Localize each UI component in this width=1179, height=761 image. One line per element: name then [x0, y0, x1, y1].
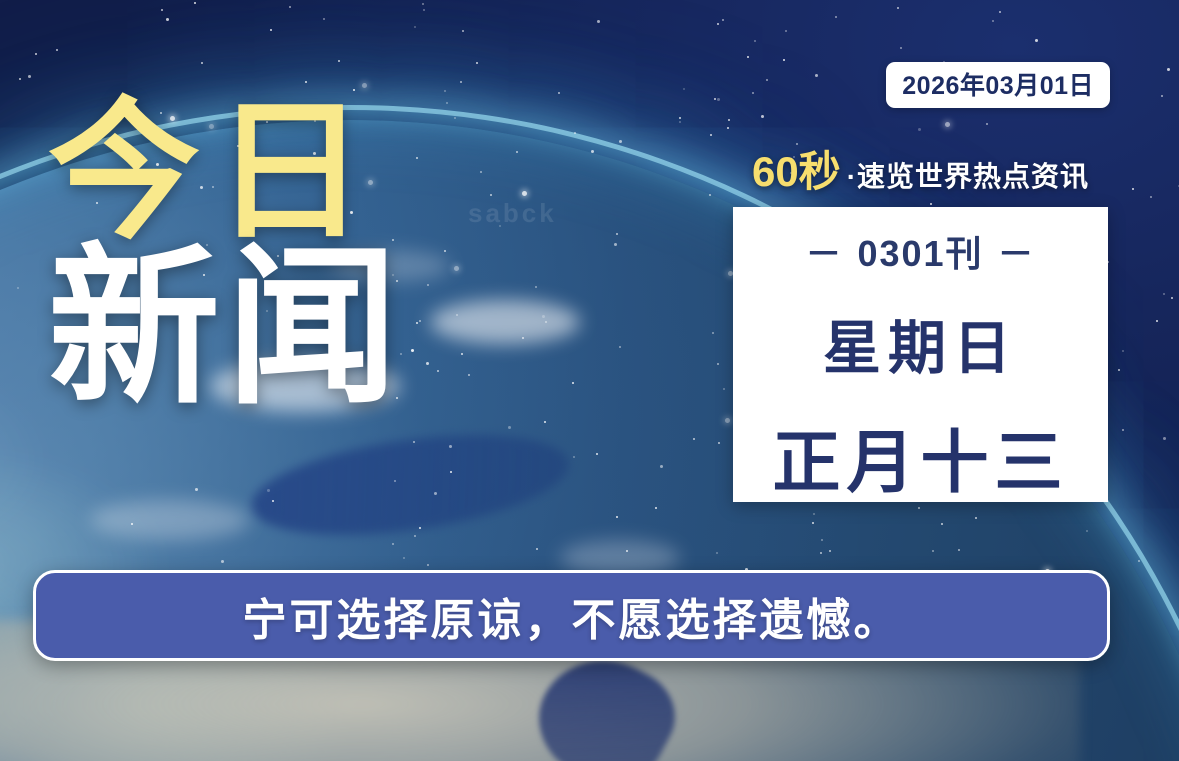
date-badge: 2026年03月01日 — [886, 62, 1110, 108]
issue-number: 0301刊 — [857, 233, 983, 274]
info-card: －0301刊－ 星期日 正月十三 — [733, 207, 1108, 502]
quote-text: 宁可选择原谅，不愿选择遗憾。 — [243, 584, 901, 648]
title-line-news: 新闻 — [48, 242, 404, 414]
lunar-date-text: 正月十三 — [772, 407, 1068, 506]
issue-dash-left: － — [805, 233, 843, 274]
tagline: 60秒 ·速览世界热点资讯 — [733, 138, 1108, 199]
right-panel: 60秒 ·速览世界热点资讯 －0301刊－ 星期日 正月十三 — [733, 138, 1108, 502]
tagline-highlight: 60秒 — [752, 138, 841, 199]
quote-bar: 宁可选择原谅，不愿选择遗憾。 — [33, 570, 1110, 661]
tagline-rest: ·速览世界热点资讯 — [847, 155, 1089, 195]
weekday-text: 星期日 — [823, 301, 1018, 385]
page-title: 今日 新闻 — [48, 96, 404, 414]
issue-line: －0301刊－ — [791, 225, 1049, 277]
issue-dash-right: － — [998, 233, 1036, 274]
news-poster: sabck 今日 新闻 2026年03月01日 60秒 ·速览世界热点资讯 －0… — [0, 0, 1179, 761]
title-line-today: 今日 — [48, 96, 404, 248]
watermark-text: sabck — [468, 198, 557, 229]
